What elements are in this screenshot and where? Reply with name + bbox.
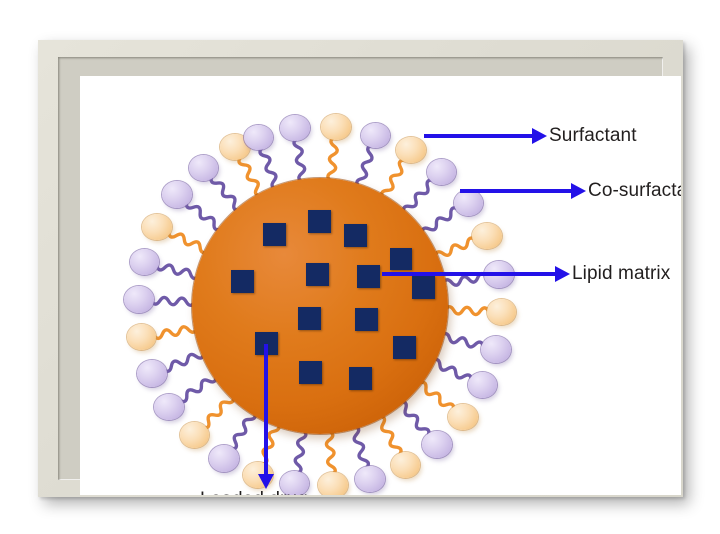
lipid-matrix-arrow-head xyxy=(555,266,570,282)
surfactant-head xyxy=(472,223,502,249)
label-surfactant: Surfactant xyxy=(549,125,637,147)
surfactant-tail xyxy=(152,319,198,344)
surfactant-arrow-head xyxy=(532,128,547,144)
cosurfactant-head xyxy=(244,125,273,150)
drug-square xyxy=(263,223,286,246)
cosurfactant-tail xyxy=(439,328,486,356)
drug-square xyxy=(344,224,367,247)
label-co-surfactant: Co-surfactant xyxy=(588,180,681,202)
loaded-drug-arrow-head xyxy=(258,474,274,489)
cosurfactant-tail xyxy=(151,291,196,311)
surfactant-head xyxy=(127,324,156,350)
label-lipid-matrix: Lipid matrix xyxy=(572,263,670,285)
surfactant-head xyxy=(448,404,478,430)
diagram-canvas: Surfactant Co-surfactant Lipid matrix Lo… xyxy=(80,76,681,495)
cosurfactant-tail xyxy=(346,424,375,471)
cosurfactant-head xyxy=(422,431,452,458)
cosurfactant-tail xyxy=(288,429,312,475)
cosurfactant-head xyxy=(137,360,167,387)
label-loaded-drug: Loaded drug xyxy=(200,489,308,495)
cosurfactant-arrow-head xyxy=(571,183,586,199)
cosurfactant-head xyxy=(355,466,385,492)
drug-square xyxy=(308,210,331,233)
surfactant-head xyxy=(321,114,351,140)
surfactant-head xyxy=(318,472,348,495)
drug-square xyxy=(393,336,416,359)
surfactant-head xyxy=(391,452,420,478)
surfactant-head xyxy=(180,422,209,448)
cosurfactant-head xyxy=(154,394,184,420)
cosurfactant-head xyxy=(468,372,497,398)
cosurfactant-head xyxy=(427,159,456,185)
diagram-stage: Surfactant Co-surfactant Lipid matrix Lo… xyxy=(0,0,720,534)
surfactant-head xyxy=(487,299,516,325)
drug-square xyxy=(349,367,372,390)
loaded-drug-arrow-line xyxy=(264,344,268,476)
surfactant-arrow-line xyxy=(424,134,534,138)
drug-square xyxy=(357,265,380,288)
cosurfactant-head xyxy=(209,445,239,472)
cosurfactant-tail xyxy=(288,137,312,183)
drug-square xyxy=(390,248,412,270)
cosurfactant-head xyxy=(481,336,511,363)
cosurfactant-head xyxy=(280,115,310,141)
surfactant-head xyxy=(396,137,426,163)
cosurfactant-arrow-line xyxy=(460,189,573,193)
surfactant-tail xyxy=(445,301,490,321)
drug-square xyxy=(231,270,254,293)
cosurfactant-head xyxy=(124,286,154,313)
drug-square xyxy=(355,308,378,331)
surfactant-tail xyxy=(322,137,344,182)
drug-square xyxy=(306,263,329,286)
surfactant-head xyxy=(142,214,172,240)
drug-square xyxy=(298,307,321,330)
picture-frame: Surfactant Co-surfactant Lipid matrix Lo… xyxy=(38,40,683,497)
cosurfactant-head xyxy=(361,123,390,148)
cosurfactant-head xyxy=(454,190,483,216)
lipid-matrix-arrow-line xyxy=(382,272,557,276)
surfactant-tail xyxy=(320,430,341,475)
drug-square xyxy=(299,361,322,384)
frame-bevel: Surfactant Co-surfactant Lipid matrix Lo… xyxy=(58,57,663,480)
drug-square xyxy=(412,276,435,299)
